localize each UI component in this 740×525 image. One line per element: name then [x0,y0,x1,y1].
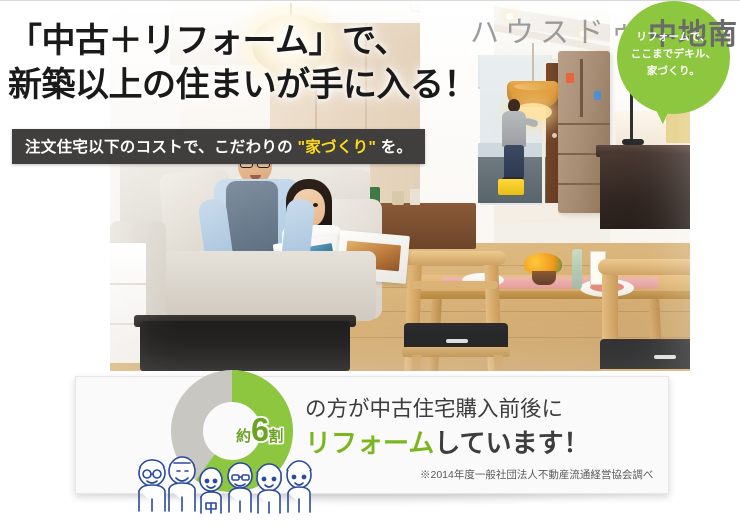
source-note: ※2014年度一般社団法人不動産流通経営協会調べ [420,467,653,482]
person-2 [169,457,195,511]
headline-line-1: 「中古＋リフォーム」で、 [8,22,408,60]
person-3 [200,468,222,513]
people-illustration-svg [134,453,320,523]
people-illustration [134,453,320,525]
bubble-line-1: リフォームで、 [617,29,730,46]
bubble-line-3: 家づくり。 [617,63,730,80]
person-4 [228,463,252,512]
stat-line-2-green: リフォーム [305,428,434,458]
person-6 [287,461,311,512]
stat-line-1: の方が中古住宅購入前後に [305,392,563,423]
subheadline-ribbon: 注文住宅以下のコストで、こだわりの "家づくり" を。 [12,129,425,164]
stat-line-2-rest: しています！ [434,428,589,458]
advertisement-banner: ハウスドゥ 中地南 リフォームで、 ここまでデキル、 家づくり。 「中古＋リフォ… [0,0,740,525]
headline-line-2: 新築以上の住まいが手に入る！ [8,63,528,107]
approx-prefix: 約 [236,428,251,445]
headline: 「中古＋リフォーム」で、 新築以上の住まいが手に入る！ [8,19,528,107]
stat-unit: 割 [268,428,283,445]
person-1 [139,460,165,511]
ribbon-suffix: を。 [376,139,412,156]
promo-bubble-text: リフォームで、 ここまでデキル、 家づくり。 [617,29,730,80]
ribbon-prefix: 注文住宅以下のコストで、こだわりの [25,139,298,156]
donut-center-label: 約6割 [236,411,283,449]
bubble-line-2: ここまでデキル、 [617,46,730,63]
person-5 [257,464,281,513]
stat-value: 6 [251,411,268,448]
stat-line-2: リフォームしています！ [305,423,589,460]
ribbon-highlight: "家づくり" [298,139,377,156]
